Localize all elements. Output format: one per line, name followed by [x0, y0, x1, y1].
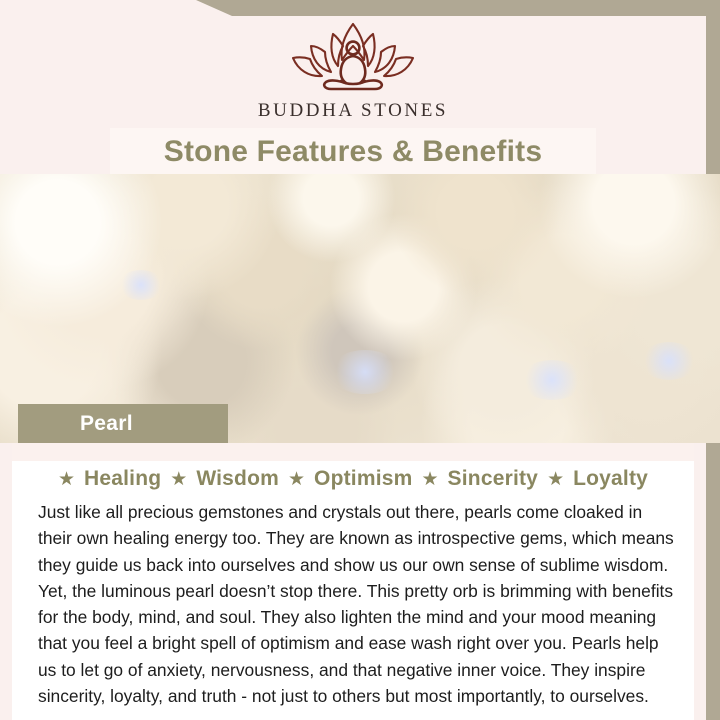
lotus-meditation-icon: [278, 18, 428, 96]
stone-name-bar: Pearl: [18, 404, 228, 443]
benefit-label-loyalty: Loyalty: [573, 467, 648, 491]
pearl-highlight: [330, 350, 400, 394]
benefit-label-optimism: Optimism: [314, 467, 412, 491]
benefit-label-healing: Healing: [84, 467, 161, 491]
star-icon: ★: [170, 470, 187, 489]
benefit-label-sincerity: Sincerity: [448, 467, 539, 491]
benefit-label-wisdom: Wisdom: [196, 467, 279, 491]
pearl-highlight: [520, 360, 584, 400]
brand-logo: BUDDHA STONES: [0, 18, 706, 122]
brand-wordmark: BUDDHA STONES: [258, 100, 448, 122]
star-icon: ★: [58, 470, 75, 489]
star-icon: ★: [422, 470, 439, 489]
star-icon: ★: [288, 470, 305, 489]
stone-name-label: Pearl: [80, 412, 133, 436]
pearl-highlight: [640, 342, 698, 380]
title-strip: Stone Features & Benefits: [110, 128, 596, 176]
benefits-row: ★ Healing ★ Wisdom ★ Optimism ★ Sincerit…: [12, 467, 694, 491]
pearl-highlight: [118, 270, 164, 300]
star-icon: ★: [547, 470, 564, 489]
content-top-tint: [12, 443, 694, 461]
content-panel: ★ Healing ★ Wisdom ★ Optimism ★ Sincerit…: [12, 443, 694, 720]
pearl-photograph: [0, 174, 720, 443]
page-title: Stone Features & Benefits: [164, 135, 542, 169]
description-paragraph: Just like all precious gemstones and cry…: [38, 499, 678, 709]
